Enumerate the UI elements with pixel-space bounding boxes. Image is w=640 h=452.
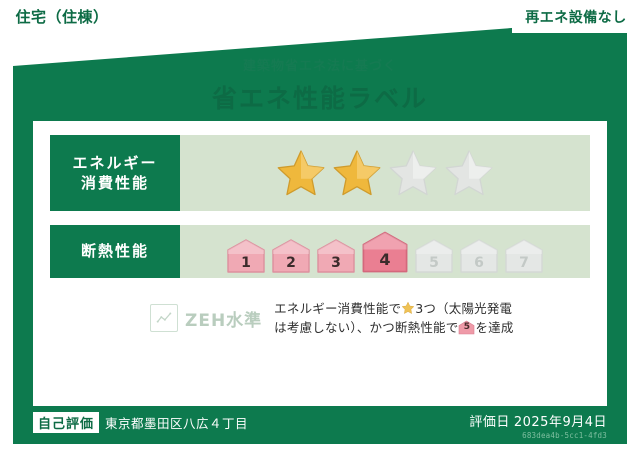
- insulation-level-number: 5: [414, 255, 454, 271]
- title-subtitle: 建築物省エネ法に基づく: [0, 55, 640, 74]
- zeh-desc-part1: エネルギー消費性能で: [274, 301, 401, 316]
- zeh-desc-part2: 3つ（太陽光発電: [415, 301, 512, 316]
- row-insulation-label: 断熱性能: [50, 225, 180, 278]
- insulation-level-2: 2: [271, 238, 311, 274]
- row-energy-label: エネルギー 消費性能: [50, 135, 180, 211]
- title-main: 省エネ性能ラベル: [0, 79, 640, 115]
- star-empty-icon: [443, 147, 495, 199]
- evaluation-date: 評価日2025年9月4日: [469, 411, 607, 430]
- insulation-level-number: 1: [226, 255, 266, 271]
- energy-performance-label: 住宅（住棟） 再エネ設備なし 建築物省エネ法に基づく 省エネ性能ラベル エネルギ…: [0, 0, 640, 452]
- building-type-label: 住宅（住棟）: [15, 6, 108, 27]
- property-address: 東京都墨田区八広４丁目: [105, 413, 248, 432]
- zeh-desc-part4: を達成: [475, 320, 513, 335]
- star-filled-icon: [275, 147, 327, 199]
- row-energy-value: [180, 135, 590, 211]
- insulation-level-7: 7: [504, 238, 544, 274]
- insulation-level-number: 4: [361, 250, 409, 269]
- label-uid: 683dea4b-5cc1-4fd3: [469, 431, 607, 440]
- row-energy-label-line2: 消費性能: [81, 173, 149, 193]
- insulation-level-5: 5: [414, 238, 454, 274]
- star-rating: [275, 147, 495, 199]
- label-card: エネルギー 消費性能 断熱性能 1234567: [33, 121, 607, 406]
- insulation-level-number: 6: [459, 255, 499, 271]
- insulation-level-3: 3: [316, 238, 356, 274]
- row-insulation-label-line1: 断熱性能: [81, 241, 149, 261]
- title-block: 建築物省エネ法に基づく 省エネ性能ラベル: [0, 55, 640, 115]
- zeh-desc-part3: は考慮しない）、かつ断熱性能で: [274, 320, 458, 335]
- evaluation-date-label: 評価日: [469, 415, 510, 430]
- renewable-equipment-tab: 再エネ設備なし: [512, 0, 640, 33]
- row-energy-performance: エネルギー 消費性能: [50, 135, 590, 211]
- label-footer: 自己評価 東京都墨田区八広４丁目 評価日2025年9月4日 683dea4b-5…: [33, 410, 607, 440]
- building-type-tab: 住宅（住棟）: [0, 0, 124, 33]
- insulation-level-scale: 1234567: [226, 225, 544, 278]
- footer-left: 自己評価 東京都墨田区八広４丁目: [33, 410, 248, 433]
- zeh-description: エネルギー消費性能で3つ（太陽光発電は考慮しない）、かつ断熱性能で5を達成: [274, 299, 590, 338]
- insulation-level-1: 1: [226, 238, 266, 274]
- inline-house-badge-icon: 5: [458, 320, 475, 335]
- zeh-section: ZEH水準 エネルギー消費性能で3つ（太陽光発電は考慮しない）、かつ断熱性能で5…: [50, 299, 590, 338]
- evaluation-type-chip: 自己評価: [33, 412, 99, 433]
- inline-house-badge-number: 5: [458, 321, 475, 335]
- row-insulation-value: 1234567: [180, 225, 590, 278]
- zeh-label: ZEH水準: [185, 306, 262, 331]
- star-empty-icon: [387, 147, 439, 199]
- zeh-badge: ZEH水準: [50, 304, 262, 332]
- insulation-level-number: 2: [271, 255, 311, 271]
- row-insulation-performance: 断熱性能 1234567: [50, 225, 590, 278]
- zeh-chart-icon: [150, 304, 178, 332]
- insulation-level-number: 7: [504, 255, 544, 271]
- star-filled-icon: [331, 147, 383, 199]
- renewable-equipment-label: 再エネ設備なし: [525, 7, 627, 27]
- evaluation-date-value: 2025年9月4日: [514, 415, 607, 430]
- insulation-level-4: 4: [361, 230, 409, 274]
- footer-right: 評価日2025年9月4日 683dea4b-5cc1-4fd3: [469, 410, 607, 440]
- insulation-level-6: 6: [459, 238, 499, 274]
- row-energy-label-line1: エネルギー: [72, 153, 157, 173]
- insulation-level-number: 3: [316, 255, 356, 271]
- inline-star-icon: [401, 301, 415, 315]
